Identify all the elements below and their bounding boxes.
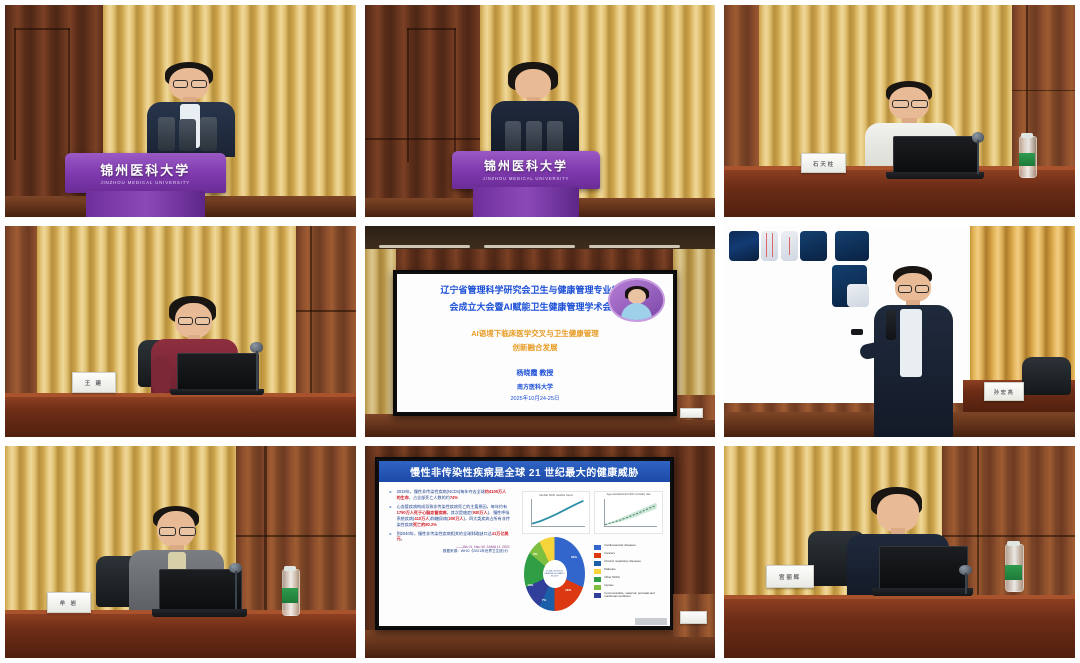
projection-screen-frame: 辽宁省管理科学研究会卫生与健康管理专业委员 会成立大会暨AI赋能卫生健康管理学术… [393,270,678,416]
line-chart-2: Age-standardized NCD mortality rate [594,491,663,534]
name-card-text: 石天柱 [812,159,834,167]
legend-item: Injuries [594,584,667,590]
bottle-label [1019,153,1035,166]
bottle-label [1005,565,1023,580]
x-tick [610,526,611,527]
side-name-card [680,611,707,624]
x-tick [623,526,624,527]
stage-floor [365,630,716,658]
legend-swatch [594,553,601,558]
portrait-body [621,303,653,320]
bullet-text: 心血管疾病构成导致非传染性疾病死亡的主要原因，每年约有 [397,504,508,509]
bullet-item: 2019年，慢性非传染性疾病(NCDs)每年夺去全球约4100万人的生命，占全部… [397,489,510,501]
slide-image-tile [781,231,798,261]
bottle-cap [1021,133,1033,138]
handheld-microphone [886,310,897,340]
name-card: 石天柱 [801,153,845,173]
bottle-label [282,588,298,603]
glasses-icon [915,285,930,293]
podium-name-cn: 锦州医科大学 [452,157,599,174]
stage-floor [365,414,716,437]
legend-label: Injuries [604,584,613,587]
microphone [200,117,218,151]
legend-label: Diabetes [604,568,615,571]
slide-footer-badge [635,618,667,625]
name-card: 王 建 [72,372,116,393]
slide-source-2: 数据来源：WHO《2021年世界卫生统计》 [397,549,510,554]
donut-center-text: 41 MILLION NCD DEATHS GLOBALLY IN 2019 [544,570,565,577]
head [515,69,552,100]
photo-panel-middle-center[interactable]: 辽宁省管理科学研究会卫生与健康管理专业委员 会成立大会暨AI赋能卫生健康管理学术… [365,226,716,438]
tile-marker [766,233,768,257]
bottle-cap [1007,541,1020,546]
microphone [158,117,176,151]
shirt [900,309,922,378]
laptop-screen [893,136,979,176]
x-tick [551,526,552,527]
projection-screen: 慢性非传染性疾病是全球 21 世纪最大的健康威胁 2019年，慢性非传染性疾病(… [379,461,670,626]
slide-date: 2025年10月24-25日 [397,394,674,402]
photo-panel-top-center[interactable]: 锦州医科大学 JINZHOU MEDICAL UNIVERSITY [365,5,716,217]
mic-stand [235,571,237,609]
slide-speaker-portrait [608,278,665,322]
podium: 锦州医科大学 JINZHOU MEDICAL UNIVERSITY [65,153,226,193]
slide-subtitle-line2: 创新融合发展 [424,343,645,353]
ceiling-light [484,245,575,248]
legend-swatch [594,569,601,574]
x-tick [564,526,565,527]
name-card-text: 宫丽辉 [779,572,801,580]
bullet-text: 到2040年，慢性非传染性疾病相关的全球财政缺口达 [397,531,492,536]
wood-seam [1012,90,1075,92]
bullet-text: ，其次是癌症( [447,510,473,515]
bullet-highlight: 死亡的80.2% [413,522,437,527]
bullet-highlight: 930万人 [473,510,488,515]
mic-stand [977,140,979,174]
slice-label: 18% [565,588,571,592]
slice-label: 8% [533,552,537,556]
name-card: 宫丽辉 [766,565,814,588]
glasses-icon [898,285,913,293]
legend-label: Chronic respiratory diseases [604,560,641,563]
bullet-item: 到2040年，慢性非传染性疾病相关的全球财政缺口达41万亿美元。 [397,531,510,543]
slide-header-text: 慢性非传染性疾病是全球 21 世纪最大的健康威胁 [410,464,639,479]
microphone [505,121,521,153]
laptop-screen [159,569,242,613]
laptop-base [872,588,974,595]
chart-title: Global NCD deaths trend [523,493,590,497]
ceiling-light [379,245,470,248]
bullet-text: 2019年，慢性非传染性疾病(NCDs)每年夺去全球 [397,489,485,494]
legend-item: Chronic respiratory diseases [594,560,667,566]
mic-stand [256,351,258,391]
glasses-icon [173,80,189,88]
chair [1022,357,1071,395]
side-curtain-right [673,249,715,414]
name-card-text: 王 建 [85,378,103,386]
head [877,494,919,531]
legend-label: Other NCDs [604,576,620,579]
name-card: 孙宏亮 [984,382,1025,401]
podium-name-cn: 锦州医科大学 [65,160,226,179]
slide-organization: 南方医科大学 [397,382,674,391]
donut-legend: Cardiovascular diseases Cancers Chronic … [594,544,667,601]
wood-seam [14,28,16,159]
legend-label: Communicable, maternal, perinatal and nu… [604,592,667,599]
x-tick [537,526,538,527]
photo-collage: 锦州医科大学 JINZHOU MEDICAL UNIVERSITY 锦州医科大学… [0,0,1080,663]
glasses-icon [195,317,210,325]
slide-header: 慢性非传染性疾病是全球 21 世纪最大的健康威胁 [379,461,670,482]
podium-base [473,187,578,217]
legend-item: Cancers [594,552,667,558]
slide-image-tile [800,231,827,261]
donut-center-label: 41 MILLION NCD DEATHS GLOBALLY IN 2019 [543,560,566,588]
wood-seam [407,28,409,161]
wood-seam [407,28,456,30]
legend-item: Communicable, maternal, perinatal and nu… [594,592,667,599]
ceiling-light [589,245,680,248]
legend-item: Cardiovascular diseases [594,544,667,550]
bullet-highlight: 74% [450,495,458,500]
portrait-head [628,289,646,304]
line-series-with-band [604,499,657,525]
projection-screen: 辽宁省管理科学研究会卫生与健康管理专业委员 会成立大会暨AI赋能卫生健康管理学术… [397,274,674,412]
microphone [547,121,563,153]
wood-seam [14,28,70,30]
glasses-icon [178,317,193,325]
bullet-highlight: 410万人 [414,516,429,521]
slide-bullet-list: 2019年，慢性非传染性疾病(NCDs)每年夺去全球约4100万人的生命，占全部… [397,489,510,554]
wood-seam [68,28,70,159]
slice-label: 19% [527,583,533,587]
slice-label: 7% [542,598,546,602]
photo-panel-middle-left[interactable]: 王 建 [5,226,356,438]
glasses-icon [911,100,928,109]
bullet-text: ，占全部死亡人数的约 [409,495,450,500]
microphone [526,121,542,153]
wood-seam [365,138,481,140]
glasses-icon [159,527,176,537]
laptop-screen [879,546,969,592]
bottle-cap [284,566,296,571]
podium: 锦州医科大学 JINZHOU MEDICAL UNIVERSITY [452,151,599,189]
slide-speaker-name: 杨晓霞 教授 [397,368,674,378]
head-table [724,599,1075,658]
glasses-icon [892,100,909,109]
wood-seam [296,310,356,312]
arm [152,357,171,393]
glasses-icon [179,527,196,537]
legend-swatch [594,577,601,582]
photo-panel-bottom-right[interactable]: 宫丽辉 [724,446,1075,658]
legend-swatch [594,561,601,566]
tile-marker [789,237,791,255]
mic-stand [965,573,967,594]
legend-label: Cardiovascular diseases [604,544,636,547]
podium-name-en: JINZHOU MEDICAL UNIVERSITY [452,176,599,181]
bullet-text: 。 [401,536,405,541]
head-table [5,397,356,437]
x-tick [637,526,638,527]
photo-panel-top-right[interactable]: 石天柱 [724,5,1075,217]
slide-image-tile [835,231,869,261]
speaker-figure [872,266,956,437]
chart-title: Age-standardized NCD mortality rate [595,493,662,496]
slide-image-tile [729,231,758,261]
photo-panel-top-left[interactable]: 锦州医科大学 JINZHOU MEDICAL UNIVERSITY [5,5,356,217]
photo-panel-bottom-left[interactable]: 牟 岩 [5,446,356,658]
legend-item: Diabetes [594,568,667,574]
bullet-highlight: 200万人 [448,516,463,521]
line-series [531,499,584,525]
name-card-text: 孙宏亮 [994,388,1015,395]
presentation-clicker [851,329,863,334]
legend-swatch [594,545,601,550]
legend-item: Other NCDs [594,576,667,582]
slide-image-tile [761,231,778,261]
laptop-screen [177,353,260,393]
tile-marker [772,233,774,257]
bullet-text: )和糖尿病( [429,516,448,521]
podium-name-en: JINZHOU MEDICAL UNIVERSITY [65,180,226,185]
bullet-item: 心血管疾病构成导致非传染性疾病死亡的主要原因，每年约有1790万人死于心脑血管疾… [397,504,510,528]
legend-swatch [594,593,601,598]
laptop-base [152,609,247,616]
side-curtain-left [365,249,397,414]
wood-seam [236,535,355,537]
slide-image-tile [847,284,869,307]
slide-subtitle-line1: AI语境下临床医学交叉与卫生健康管理 [424,329,645,339]
line-chart-1: Global NCD deaths trend [522,491,591,534]
head-table [5,614,356,658]
laptop-base [886,172,984,178]
microphone [179,119,197,151]
projection-screen-frame: 慢性非传染性疾病是全球 21 世纪最大的健康威胁 2019年，慢性非传染性疾病(… [375,457,674,630]
side-name-card [680,408,703,418]
legend-swatch [594,585,601,590]
wood-seam [942,535,1075,537]
name-card: 牟 岩 [47,592,91,613]
glasses-icon [191,80,207,88]
x-tick [650,526,651,527]
legend-label: Cancers [604,552,615,555]
name-card-text: 牟 岩 [60,599,78,607]
x-tick [577,526,578,527]
podium-base [86,191,205,216]
wood-seam [454,28,456,161]
slice-label: 32% [571,555,577,559]
laptop-base [170,389,265,395]
photo-panel-middle-right[interactable]: 孙宏亮 [724,226,1075,438]
bullet-highlight: 1790万人死于心脑血管疾病 [397,510,447,515]
photo-panel-bottom-center[interactable]: 慢性非传染性疾病是全球 21 世纪最大的健康威胁 2019年，慢性非传染性疾病(… [365,446,716,658]
